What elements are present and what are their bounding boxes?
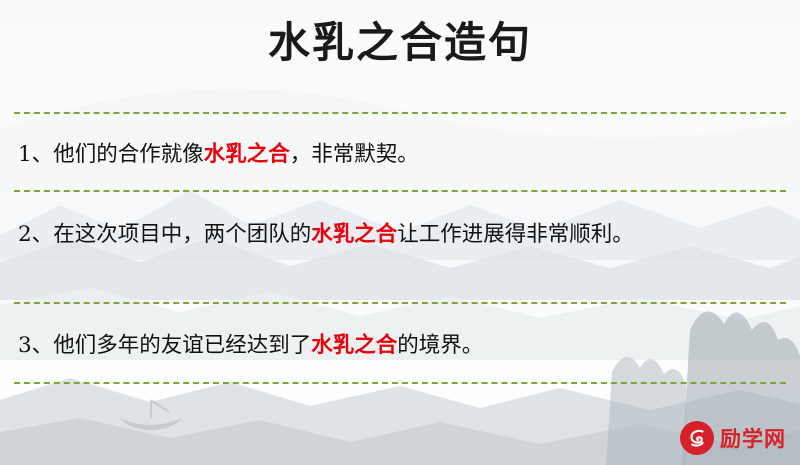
document-page: 水乳之合造句 1、他们的合作就像水乳之合，非常默契。 2、在这次项目中，两个团队… <box>0 0 800 465</box>
item-number: 3、 <box>18 333 53 358</box>
list-item: 3、他们多年的友谊已经达到了水乳之合的境界。 <box>18 327 782 365</box>
page-title: 水乳之合造句 <box>0 18 800 68</box>
watermark-brand: 励学网 <box>720 423 786 453</box>
divider-1 <box>14 112 786 114</box>
divider-2 <box>14 190 786 192</box>
item-text-before: 他们的合作就像 <box>53 142 204 167</box>
item-text-after: 的境界。 <box>397 333 483 358</box>
list-item: 1、他们的合作就像水乳之合，非常默契。 <box>18 136 782 174</box>
item-highlight-phrase: 水乳之合 <box>311 333 397 358</box>
swirl-icon <box>680 421 714 455</box>
item-text-before: 他们多年的友谊已经达到了 <box>53 333 311 358</box>
watermark-logo: 励学网 <box>680 421 786 455</box>
item-text-after: 让工作进展得非常顺利。 <box>397 222 634 247</box>
item-highlight-phrase: 水乳之合 <box>204 142 290 167</box>
list-item: 2、在这次项目中，两个团队的水乳之合让工作进展得非常顺利。 <box>18 216 782 254</box>
item-number: 2、 <box>18 222 53 247</box>
divider-4 <box>14 382 786 384</box>
divider-3 <box>14 302 786 304</box>
item-highlight-phrase: 水乳之合 <box>311 222 397 247</box>
item-text-after: ，非常默契。 <box>290 142 419 167</box>
item-text-before: 在这次项目中，两个团队的 <box>53 222 311 247</box>
item-number: 1、 <box>18 142 53 167</box>
